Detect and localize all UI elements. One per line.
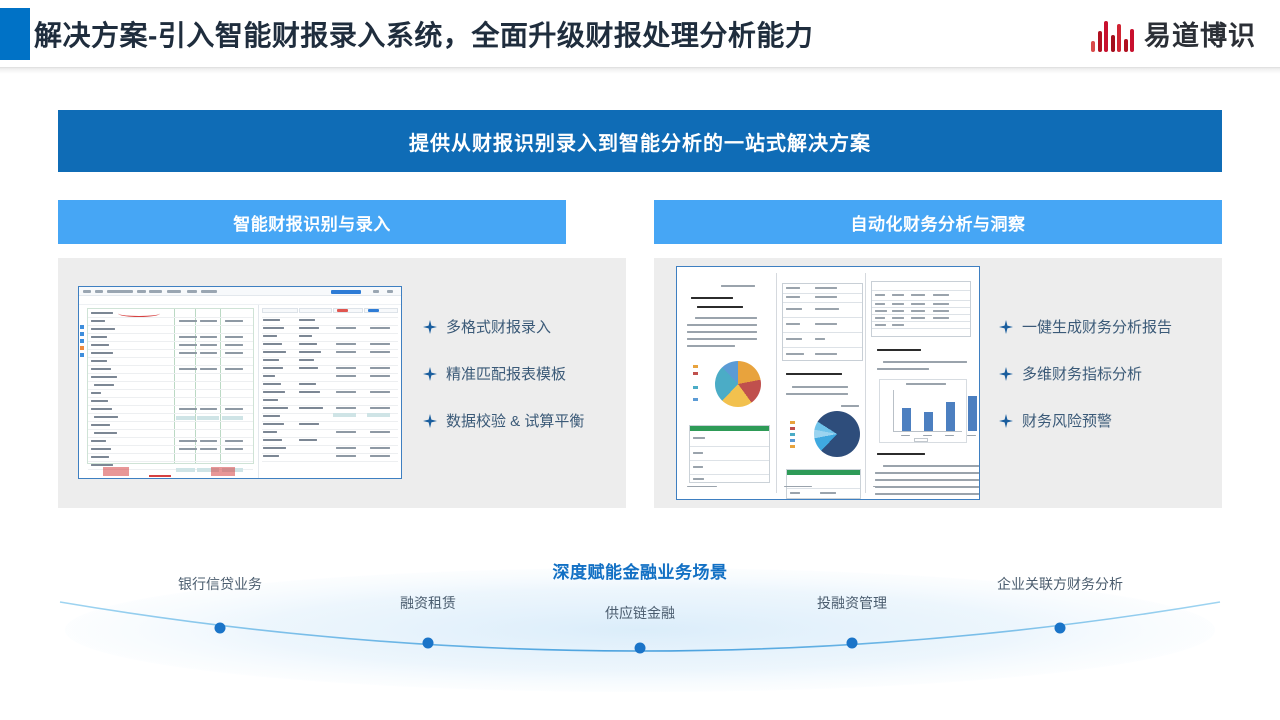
slide-header: 解决方案-引入智能财报录入系统，全面升级财报处理分析能力 易道博识 — [0, 0, 1280, 68]
data-table — [871, 281, 971, 337]
pie-chart — [814, 411, 860, 457]
bar-chart — [879, 379, 967, 443]
feature-item: 一健生成财务分析报告 — [999, 316, 1172, 337]
scenario-label-4: 企业关联方财务分析 — [997, 574, 1123, 594]
feature-item: 数据校验 & 试算平衡 — [423, 410, 584, 431]
data-table — [689, 425, 770, 483]
section-header-left-text: 智能财报识别与录入 — [233, 210, 391, 235]
hero-banner-text: 提供从财报识别录入到智能分析的一站式解决方案 — [409, 127, 871, 156]
slide-root: 解决方案-引入智能财报录入系统，全面升级财报处理分析能力 易道博识 提供从财报识… — [0, 0, 1280, 720]
app-sheet-pane — [79, 305, 259, 478]
brand-logo: 易道博识 — [1091, 14, 1256, 53]
report-page-2 — [778, 273, 866, 493]
sparkle-bullet-icon — [423, 320, 437, 334]
app-mapping-pane — [259, 305, 401, 478]
feature-list-right: 一健生成财务分析报告 多维财务指标分析 财务风险预警 — [999, 316, 1172, 431]
data-table — [786, 469, 861, 499]
feature-list-left: 多格式财报录入 精准匹配报表模板 数据校验 & 试算平衡 — [423, 316, 584, 431]
screenshot-financial-entry-app — [78, 286, 402, 479]
feature-label: 多格式财报录入 — [446, 316, 551, 337]
feature-label: 数据校验 & 试算平衡 — [446, 410, 584, 431]
header-divider — [0, 67, 1280, 74]
feature-item: 财务风险预警 — [999, 410, 1172, 431]
screenshot-analysis-report-pages — [676, 266, 980, 500]
scenario-section: 深度赋能金融业务场景 银行信贷业务 融资租赁 供应链金融 投融资管理 企业关联方… — [0, 540, 1280, 720]
app-side-rail — [80, 325, 84, 371]
feature-item: 多格式财报录入 — [423, 316, 584, 337]
app-toolbar — [79, 287, 401, 296]
data-table — [782, 283, 863, 361]
section-header-right-text: 自动化财务分析与洞察 — [851, 210, 1026, 235]
scenario-label-0: 银行信贷业务 — [178, 574, 262, 594]
scenario-label-2: 供应链金融 — [605, 603, 675, 623]
page-title: 解决方案-引入智能财报录入系统，全面升级财报处理分析能力 — [34, 14, 813, 54]
scenario-label-1: 融资租赁 — [400, 593, 456, 613]
section-header-right: 自动化财务分析与洞察 — [654, 200, 1222, 244]
app-window — [79, 287, 401, 478]
report-page-1 — [681, 273, 777, 493]
logo-bars-icon — [1091, 16, 1134, 52]
sparkle-bullet-icon — [999, 320, 1013, 334]
sparkle-bullet-icon — [999, 414, 1013, 428]
report-page-3 — [867, 273, 975, 493]
feature-item: 精准匹配报表模板 — [423, 363, 584, 384]
logo-text: 易道博识 — [1144, 14, 1256, 53]
mapping-table-header — [262, 308, 398, 313]
sparkle-bullet-icon — [423, 367, 437, 381]
annotation-curve — [118, 310, 160, 317]
feature-label: 多维财务指标分析 — [1022, 363, 1142, 384]
pie-chart — [715, 361, 761, 407]
report-pages — [677, 267, 979, 499]
sparkle-bullet-icon — [423, 414, 437, 428]
section-header-left: 智能财报识别与录入 — [58, 200, 566, 244]
hero-banner: 提供从财报识别录入到智能分析的一站式解决方案 — [58, 110, 1222, 172]
header-accent-bar — [0, 8, 30, 60]
content-panel-right: 一健生成财务分析报告 多维财务指标分析 财务风险预警 — [654, 258, 1222, 508]
content-panel-left: 多格式财报录入 精准匹配报表模板 数据校验 & 试算平衡 — [58, 258, 626, 508]
app-subtoolbar — [79, 296, 401, 305]
sheet-grid — [87, 308, 254, 464]
feature-label: 一健生成财务分析报告 — [1022, 316, 1172, 337]
feature-label: 精准匹配报表模板 — [446, 363, 566, 384]
scenario-label-3: 投融资管理 — [817, 593, 887, 613]
feature-label: 财务风险预警 — [1022, 410, 1112, 431]
feature-item: 多维财务指标分析 — [999, 363, 1172, 384]
sparkle-bullet-icon — [999, 367, 1013, 381]
